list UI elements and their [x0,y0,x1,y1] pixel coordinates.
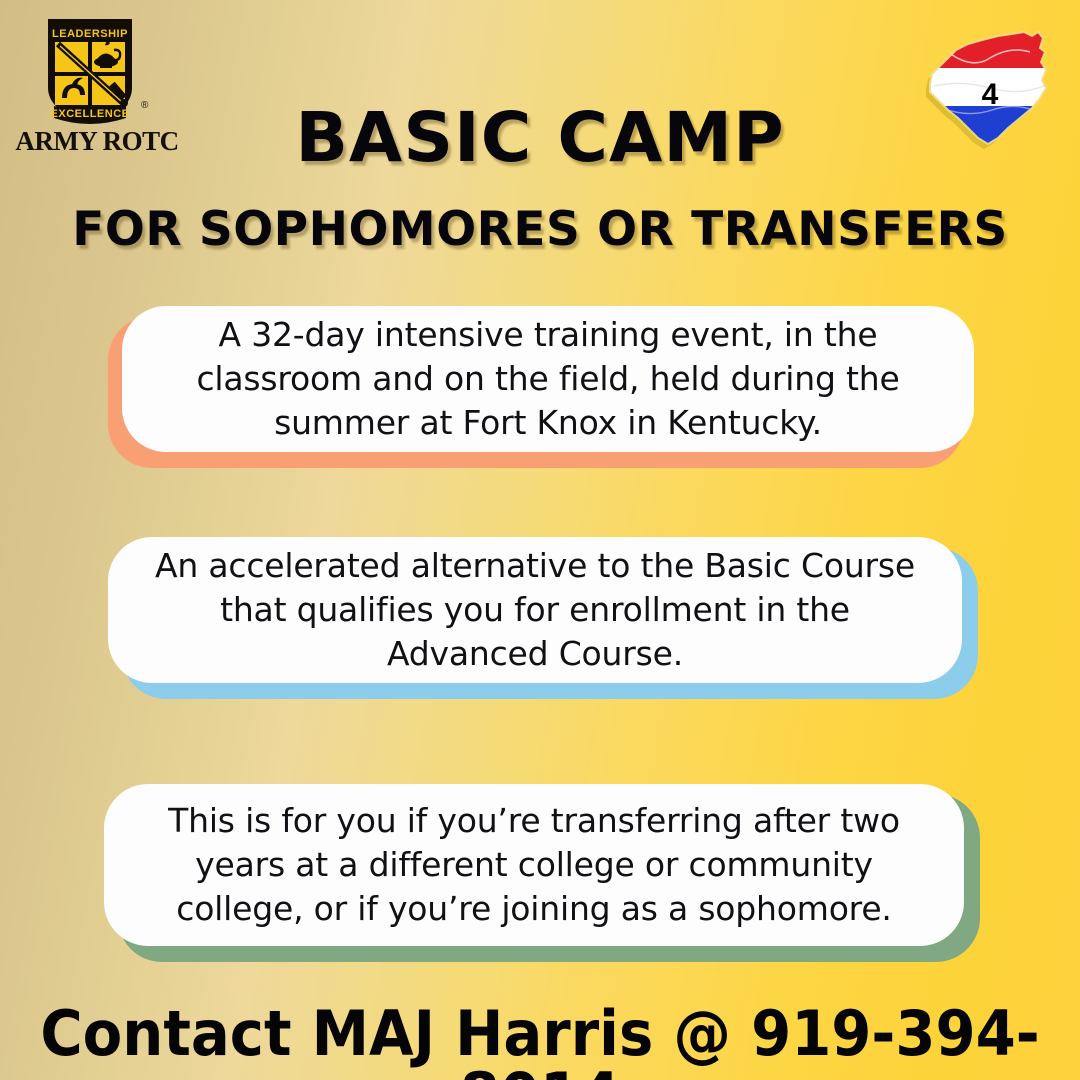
info-card-1: A 32-day intensive training event, in th… [108,306,980,468]
page-subtitle: FOR SOPHOMORES OR TRANSFERS [0,206,1080,253]
card-1-body: A 32-day intensive training event, in th… [122,306,974,452]
poster-canvas: LEADERSHIP EXCELLENCE ® ARMY ROTC [0,0,1080,1080]
card-3-body: This is for you if you’re transferring a… [104,784,964,946]
card-1-text: A 32-day intensive training event, in th… [122,313,974,445]
emblem-number-label: 4 [912,80,1068,110]
info-card-3: This is for you if you’re transferring a… [104,784,984,964]
info-card-2: An accelerated alternative to the Basic … [108,537,980,699]
svg-text:LEADERSHIP: LEADERSHIP [52,28,128,40]
contact-footer: Contact MAJ Harris @ 919-394-8014 [38,1003,1042,1080]
page-title: BASIC CAMP [0,104,1080,173]
card-3-text: This is for you if you’re transferring a… [104,799,964,931]
card-2-body: An accelerated alternative to the Basic … [108,537,962,683]
card-2-text: An accelerated alternative to the Basic … [108,544,962,676]
